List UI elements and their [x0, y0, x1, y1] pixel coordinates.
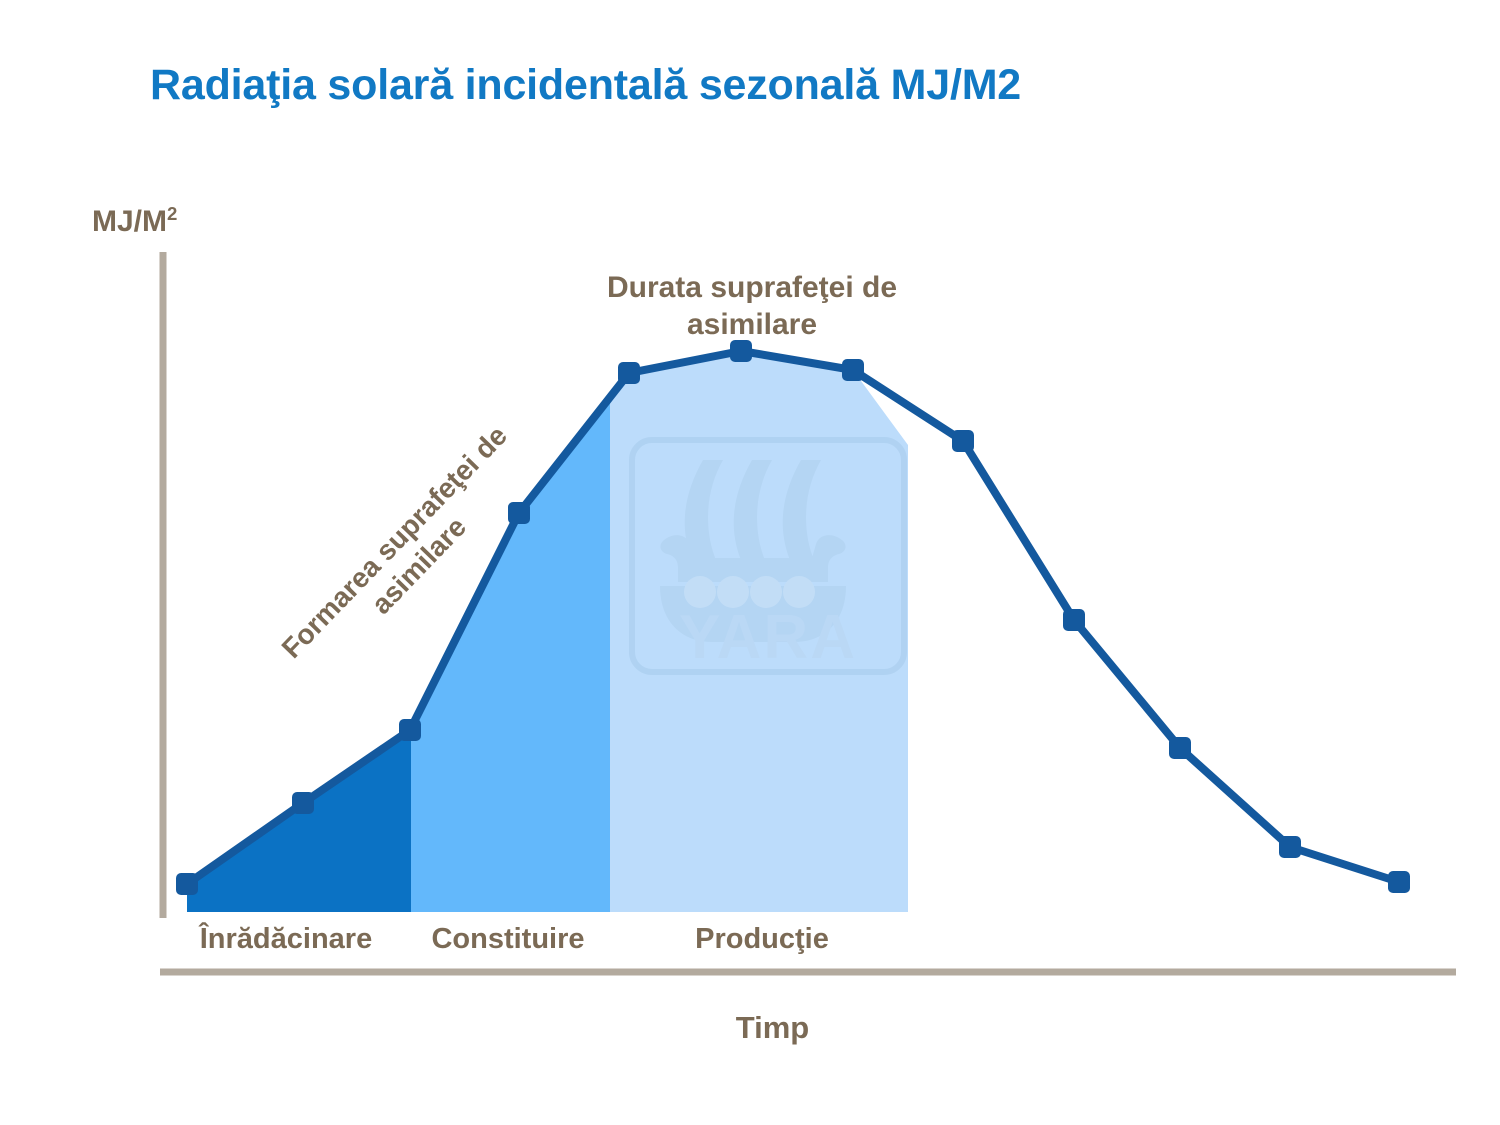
data-point-marker [292, 792, 314, 814]
data-point-marker [1063, 609, 1085, 631]
data-point-marker [952, 430, 974, 452]
chart-plot: YARA [0, 0, 1500, 1125]
data-point-marker [1169, 737, 1191, 759]
annotation-duration-line-2: asimilare [512, 307, 992, 344]
stage-label-constituire: Constituire [410, 923, 606, 956]
data-point-marker [618, 362, 640, 384]
data-point-marker [1279, 836, 1301, 858]
x-axis-title: Timp [0, 1010, 1500, 1046]
slide-canvas: Radiaţia solară incidentală sezonală MJ/… [0, 0, 1500, 1125]
data-point-marker [399, 719, 421, 741]
annotation-duration-line-1: Durata suprafeţei de [512, 270, 992, 307]
stage-label-inradacinare: Înrădăcinare [176, 923, 396, 956]
data-point-marker [842, 359, 864, 381]
yara-wordmark: YARA [679, 603, 857, 672]
data-point-marker [1388, 871, 1410, 893]
data-point-marker [508, 502, 530, 524]
data-point-marker [730, 340, 752, 362]
stage-label-productie: Producţie [617, 923, 907, 956]
data-point-marker [176, 873, 198, 895]
x-axis-title-text: Timp [736, 1010, 810, 1046]
annotation-duration: Durata suprafeţei de asimilare [512, 270, 992, 343]
